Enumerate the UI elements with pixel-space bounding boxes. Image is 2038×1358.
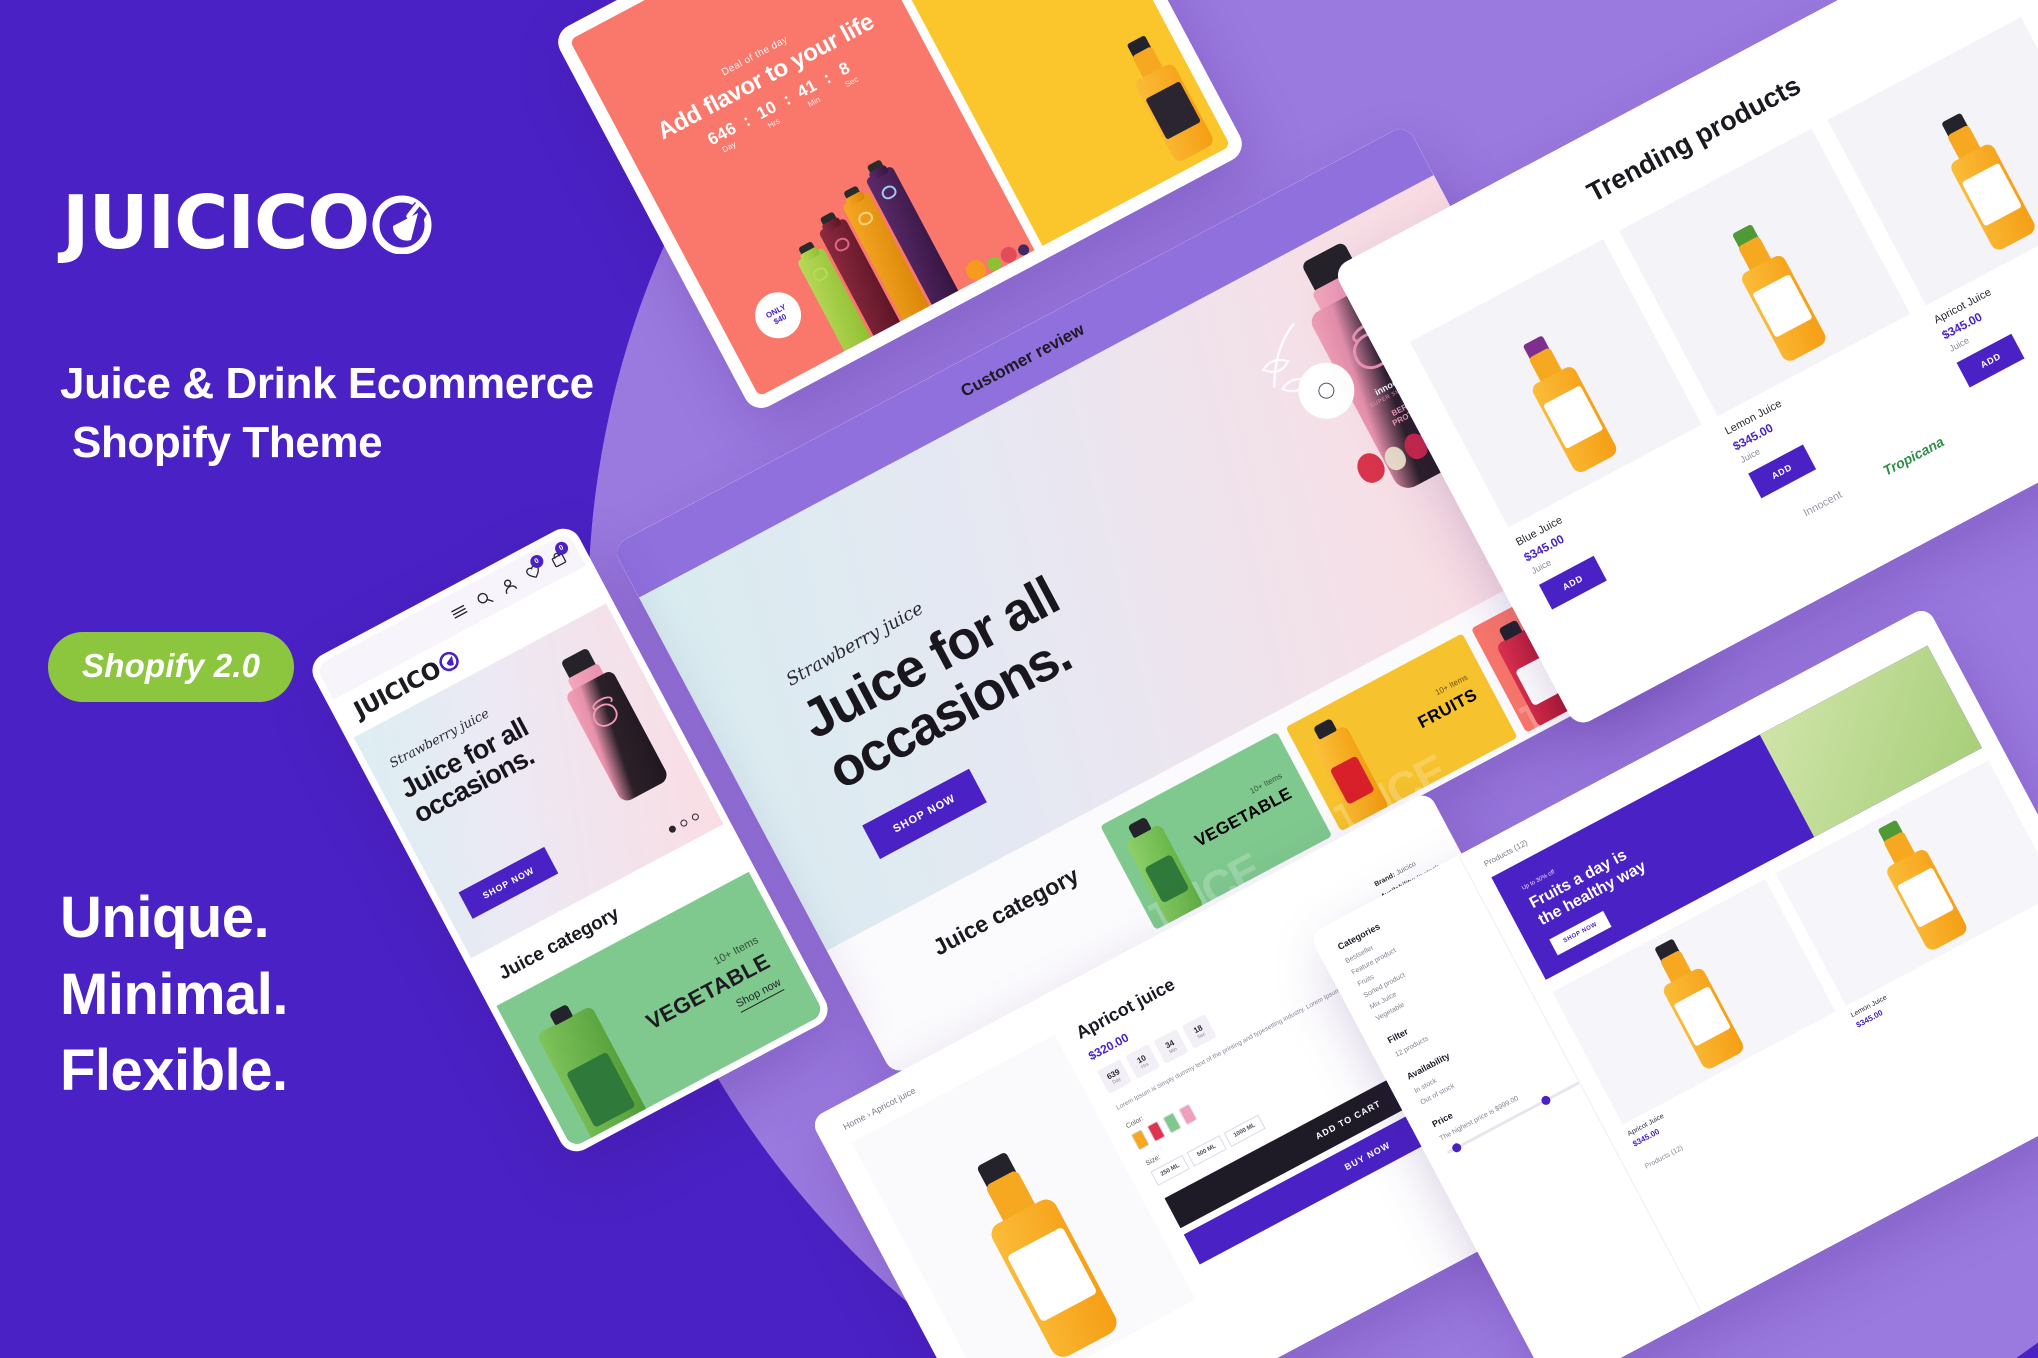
feature-minimal: Minimal. xyxy=(60,957,288,1034)
countdown-sep: : xyxy=(780,90,794,110)
color-swatch-green[interactable] xyxy=(1163,1112,1182,1134)
price-slider-handle-min[interactable] xyxy=(1451,1142,1463,1154)
color-swatch-pink[interactable] xyxy=(1178,1104,1197,1126)
price-range-slider[interactable] xyxy=(1447,1081,1580,1154)
color-swatch-orange[interactable] xyxy=(1131,1129,1150,1151)
collection-footer-left: Products (12) xyxy=(1644,1145,1684,1171)
feature-flexible: Flexible. xyxy=(60,1033,288,1110)
brand-logo-text: JUICICO xyxy=(62,186,369,260)
feature-unique: Unique. xyxy=(60,880,288,957)
deal-price-badge: ONLY $40 xyxy=(747,284,809,346)
countdown-sep: : xyxy=(820,68,834,88)
countdown-sep: : xyxy=(740,111,754,131)
feature-list: Unique. Minimal. Flexible. xyxy=(60,880,288,1110)
brand-logo-innocent: Innocent xyxy=(1801,489,1844,519)
tagline-line-1: Juice & Drink Ecommerce xyxy=(60,359,594,408)
color-swatch-red[interactable] xyxy=(1147,1121,1166,1143)
promo-banner-stage: JUICICO Juice & Drink Ecommerce Shopify … xyxy=(0,0,2038,1358)
page-tagline: Juice & Drink Ecommerce Shopify Theme xyxy=(60,355,700,473)
brand-logo-tropicana: Tropicana xyxy=(1880,433,1946,478)
category-fruits-name: FRUITS xyxy=(1415,685,1481,733)
brand-logo: JUICICO xyxy=(62,186,433,260)
left-info-panel: JUICICO Juice & Drink Ecommerce Shopify … xyxy=(0,0,620,1358)
juice-cup-icon xyxy=(371,192,433,254)
price-slider-handle-max[interactable] xyxy=(1540,1094,1552,1106)
tagline-line-2: Shopify Theme xyxy=(60,414,700,473)
shopify-version-badge: Shopify 2.0 xyxy=(48,632,294,702)
hero-heading: Juice for all occasions. xyxy=(793,568,1094,800)
